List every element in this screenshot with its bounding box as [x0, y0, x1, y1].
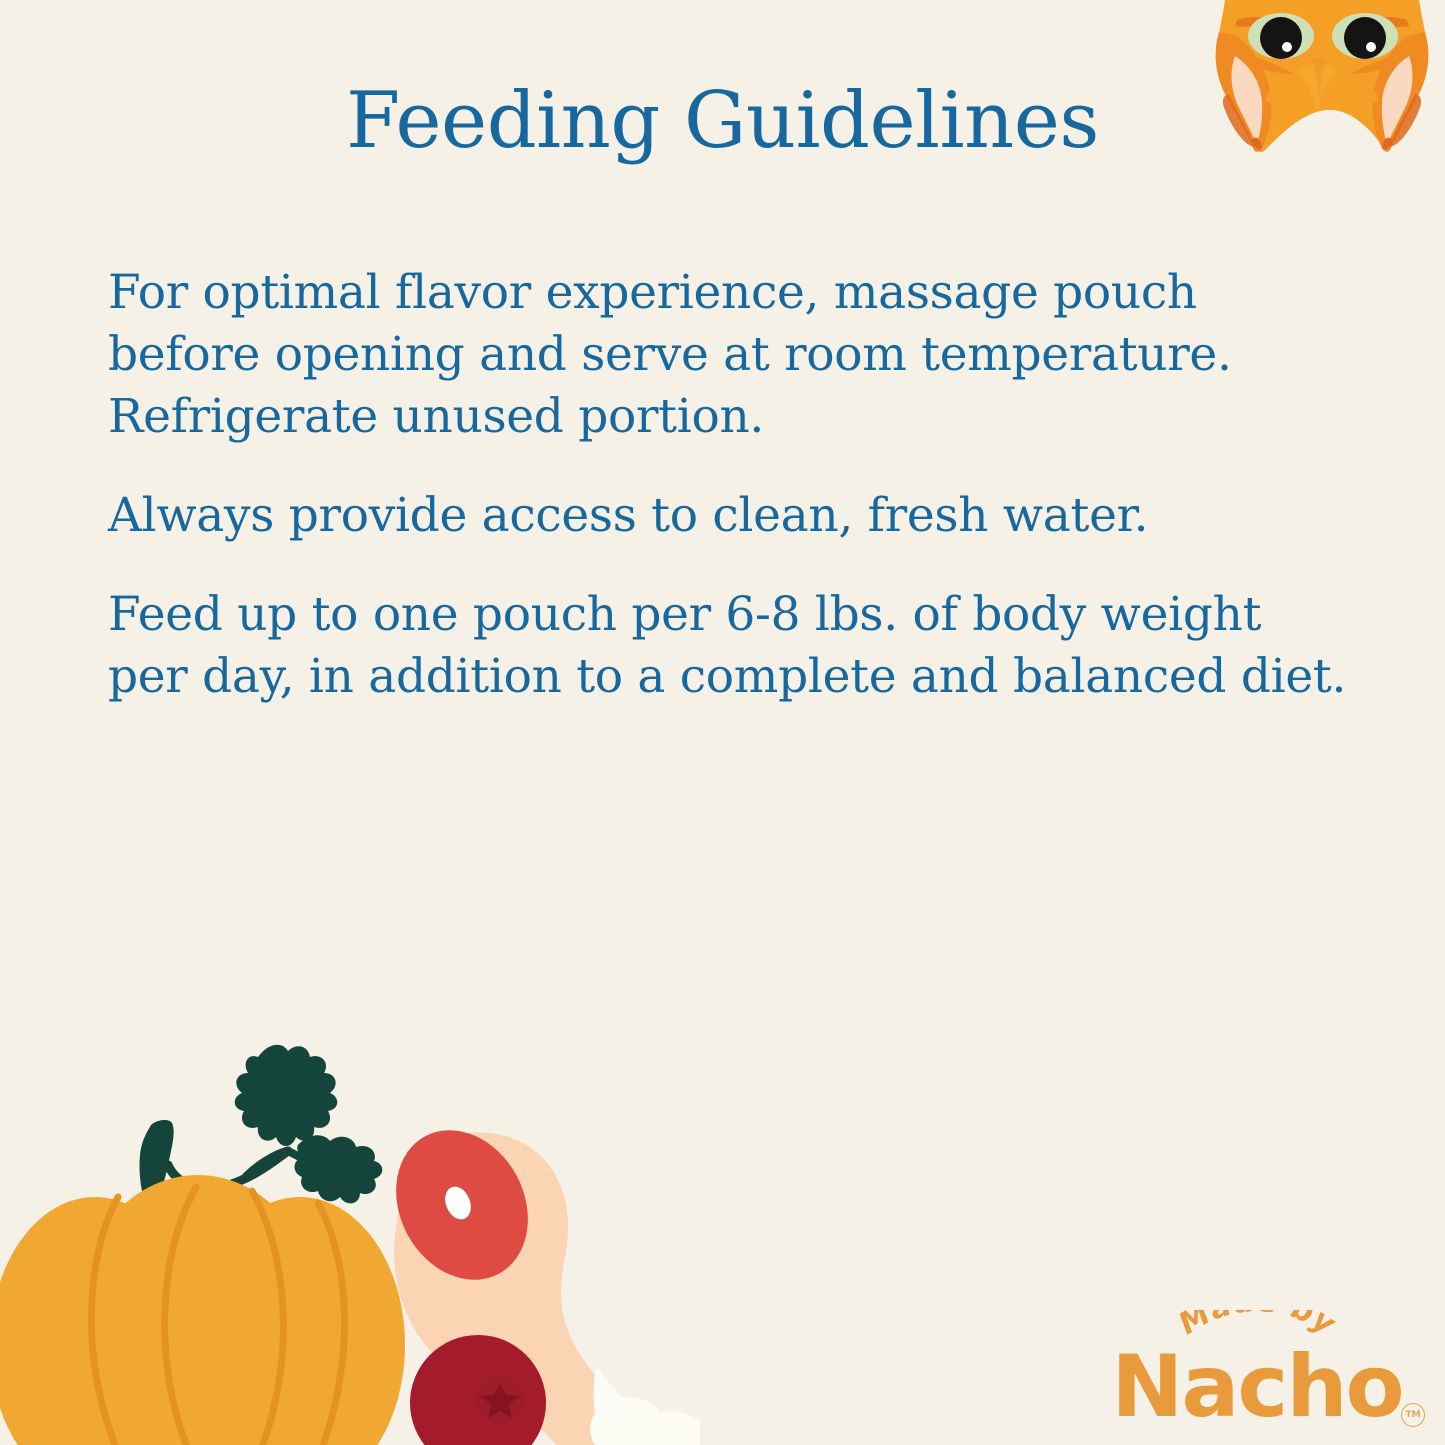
trademark-icon: TM [1401, 1403, 1425, 1427]
feeding-guidelines-panel: Feeding Guidelines For optimal flavor ex… [0, 0, 1445, 1445]
nacho-wordmark: Nacho [1087, 1344, 1427, 1430]
feeding-instructions: For optimal flavor experience, massage p… [108, 262, 1353, 708]
pumpkin [0, 1175, 405, 1445]
food-illustration-group [0, 1015, 700, 1445]
brand-logo: Made by Nacho TM [1087, 1310, 1427, 1435]
instruction-paragraph: Feed up to one pouch per 6-8 lbs. of bod… [108, 584, 1353, 708]
instruction-paragraph: For optimal flavor experience, massage p… [108, 262, 1353, 448]
instruction-paragraph: Always provide access to clean, fresh wa… [108, 485, 1353, 547]
page-title: Feeding Guidelines [0, 82, 1445, 160]
